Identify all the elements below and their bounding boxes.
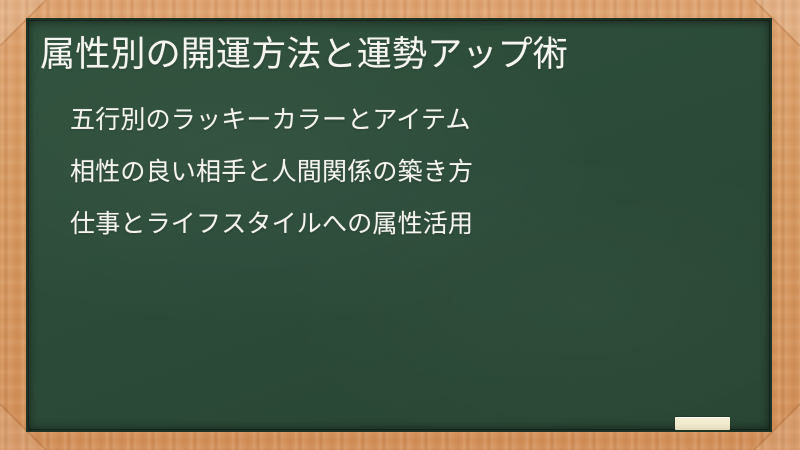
chalkboard-surface: 属性別の開運方法と運勢アップ術 五行別のラッキーカラーとアイテム 相性の良い相手… <box>26 18 772 432</box>
board-content-area: 属性別の開運方法と運勢アップ術 五行別のラッキーカラーとアイテム 相性の良い相手… <box>28 20 770 430</box>
bullet-item-1: 五行別のラッキーカラーとアイテム <box>70 94 752 146</box>
chalkboard-frame: 属性別の開運方法と運勢アップ術 五行別のラッキーカラーとアイテム 相性の良い相手… <box>0 0 800 450</box>
chalk-stick-icon <box>675 417 730 430</box>
slide-title: 属性別の開運方法と運勢アップ術 <box>36 30 752 80</box>
bullet-item-3: 仕事とライフスタイルへの属性活用 <box>70 198 752 250</box>
bullet-list: 五行別のラッキーカラーとアイテム 相性の良い相手と人間関係の築き方 仕事とライフ… <box>36 94 752 250</box>
bullet-item-2: 相性の良い相手と人間関係の築き方 <box>70 146 752 198</box>
